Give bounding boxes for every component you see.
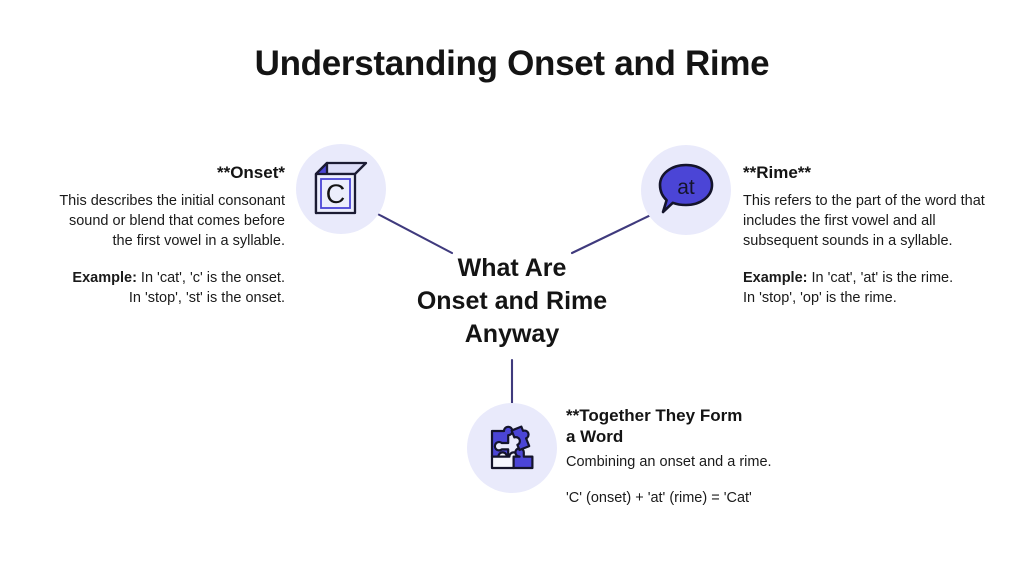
icon-bubble-together[interactable]: [467, 403, 557, 493]
panel-together-heading: **Together They Form a Word: [566, 405, 826, 448]
panel-onset-body: This describes the initial consonant sou…: [54, 191, 285, 251]
connector-rime-to-center: [572, 213, 655, 253]
speech-bubble-at-icon: at: [654, 159, 718, 221]
center-line-1: What Are: [382, 252, 642, 285]
panel-rime-example-line2: In 'stop', 'op' is the rime.: [743, 290, 897, 306]
panel-together-heading-line1: **Together They Form: [566, 405, 826, 426]
panel-rime-example-label: Example:: [743, 270, 807, 286]
bubble-letters: at: [677, 176, 695, 199]
panel-onset-heading: **Onset*: [54, 163, 285, 183]
panel-onset-example: Example: In 'cat', 'c' is the onset. In …: [54, 268, 285, 308]
icon-bubble-rime[interactable]: at: [641, 145, 731, 235]
panel-onset-example-label: Example:: [72, 270, 136, 286]
panel-rime-example-line1: In 'cat', 'at' is the rime.: [807, 270, 953, 286]
panel-rime-heading: **Rime**: [743, 163, 988, 183]
panel-rime-example: Example: In 'cat', 'at' is the rime. In …: [743, 268, 988, 308]
panel-rime: **Rime** This refers to the part of the …: [743, 163, 988, 308]
center-line-3: Anyway: [382, 318, 642, 351]
panel-onset-example-line1: In 'cat', 'c' is the onset.: [137, 270, 285, 286]
page-title: Understanding Onset and Rime: [0, 44, 1024, 84]
center-node: What Are Onset and Rime Anyway: [382, 252, 642, 351]
panel-together-formula: 'C' (onset) + 'at' (rime) = 'Cat': [566, 488, 826, 508]
block-letter: C: [326, 179, 346, 209]
puzzle-pieces-icon: [481, 417, 543, 479]
alphabet-block-c-icon: C: [310, 158, 372, 220]
panel-onset-example-line2: In 'stop', 'st' is the onset.: [129, 290, 285, 306]
panel-together: **Together They Form a Word Combining an…: [566, 405, 826, 508]
infographic-canvas: Understanding Onset and Rime C at: [0, 0, 1024, 572]
panel-onset: **Onset* This describes the initial cons…: [54, 163, 285, 308]
panel-together-heading-line2: a Word: [566, 426, 826, 447]
connector-onset-to-center: [372, 211, 452, 253]
panel-together-body: Combining an onset and a rime.: [566, 452, 826, 472]
icon-bubble-onset[interactable]: C: [296, 144, 386, 234]
panel-rime-body: This refers to the part of the word that…: [743, 191, 988, 251]
center-line-2: Onset and Rime: [382, 285, 642, 318]
